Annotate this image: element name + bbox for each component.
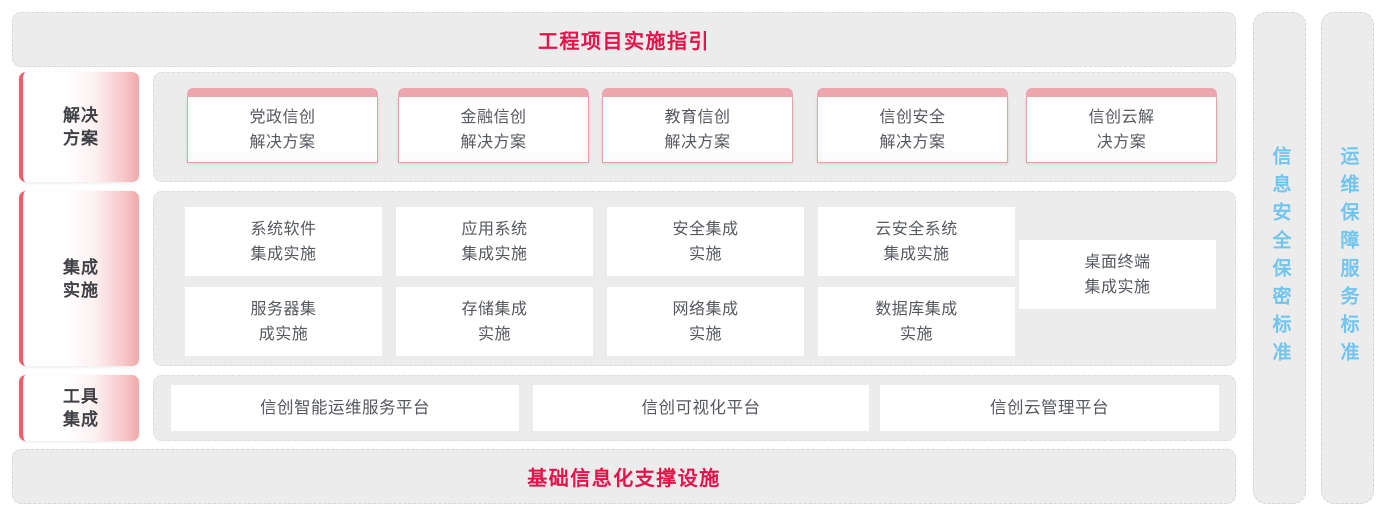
card-line2: 解决方案 bbox=[460, 130, 526, 155]
card-integration-bottom-2-label: 网络集成 实施 bbox=[672, 297, 738, 347]
card-line2: 解决方案 bbox=[249, 130, 315, 155]
card-line1: 桌面终端 bbox=[1084, 250, 1150, 275]
row-label-integration-text: 集成 实施 bbox=[53, 256, 109, 302]
card-line2: 解决方案 bbox=[664, 130, 730, 155]
card-integration-bottom-1[interactable]: 存储集成 实施 bbox=[396, 287, 593, 356]
card-solution-0-label: 党政信创 解决方案 bbox=[249, 105, 315, 155]
row-label-line2: 实施 bbox=[53, 279, 109, 302]
card-line2: 实施 bbox=[672, 322, 738, 347]
card-line1: 数据库集成 bbox=[875, 297, 958, 322]
page-title: 工程项目实施指引 bbox=[538, 25, 710, 54]
card-line1: 信创安全 bbox=[879, 105, 945, 130]
card-integration-bottom-0-label: 服务器集 成实施 bbox=[250, 297, 316, 347]
card-line1: 应用系统 bbox=[461, 217, 527, 242]
card-line2: 集成实施 bbox=[1084, 275, 1150, 300]
card-integration-top-3-label: 云安全系统 集成实施 bbox=[875, 217, 958, 267]
row-label-tools[interactable]: 工具 集成 bbox=[19, 375, 139, 441]
card-integration-top-3[interactable]: 云安全系统 集成实施 bbox=[818, 207, 1015, 276]
row-label-tools-text: 工具 集成 bbox=[53, 385, 109, 431]
vertical-column-security-standard-label: 信息安全保密标准 bbox=[1269, 146, 1291, 370]
card-integration-top-2-label: 安全集成 实施 bbox=[672, 217, 738, 267]
vertical-column-ops-standard-label: 运维保障服务标准 bbox=[1337, 146, 1359, 370]
card-line1: 云安全系统 bbox=[875, 217, 958, 242]
card-solution-4-label: 信创云解 决方案 bbox=[1088, 105, 1154, 155]
vertical-column-ops-standard[interactable]: 运维保障服务标准 bbox=[1321, 12, 1374, 504]
vertical-column-security-standard[interactable]: 信息安全保密标准 bbox=[1253, 12, 1306, 504]
card-line2: 成实施 bbox=[250, 322, 316, 347]
card-integration-bottom-3[interactable]: 数据库集成 实施 bbox=[818, 287, 1015, 356]
card-tool-2[interactable]: 信创云管理平台 bbox=[880, 385, 1219, 431]
row-label-solutions-text: 解决 方案 bbox=[53, 104, 109, 150]
card-tool-1-label: 信创可视化平台 bbox=[642, 396, 761, 421]
card-line1: 信创云解 bbox=[1088, 105, 1154, 130]
card-integration-top-1[interactable]: 应用系统 集成实施 bbox=[396, 207, 593, 276]
card-integration-top-0-label: 系统软件 集成实施 bbox=[250, 217, 316, 267]
card-integration-desktop-terminal[interactable]: 桌面终端 集成实施 bbox=[1019, 240, 1216, 309]
card-solution-1-label: 金融信创 解决方案 bbox=[460, 105, 526, 155]
card-line1: 存储集成 bbox=[461, 297, 527, 322]
card-tool-0[interactable]: 信创智能运维服务平台 bbox=[171, 385, 519, 431]
card-line2: 集成实施 bbox=[461, 242, 527, 267]
row-label-integration[interactable]: 集成 实施 bbox=[19, 191, 139, 366]
row-label-line2: 集成 bbox=[53, 408, 109, 431]
card-line1: 网络集成 bbox=[672, 297, 738, 322]
card-line1: 安全集成 bbox=[672, 217, 738, 242]
card-solution-1[interactable]: 金融信创 解决方案 bbox=[398, 97, 589, 163]
card-line2: 解决方案 bbox=[879, 130, 945, 155]
card-solution-4[interactable]: 信创云解 决方案 bbox=[1026, 97, 1217, 163]
card-integration-bottom-0[interactable]: 服务器集 成实施 bbox=[185, 287, 382, 356]
row-label-line1: 解决 bbox=[53, 104, 109, 127]
card-integration-bottom-1-label: 存储集成 实施 bbox=[461, 297, 527, 347]
card-solution-3-label: 信创安全 解决方案 bbox=[879, 105, 945, 155]
card-line1: 服务器集 bbox=[250, 297, 316, 322]
row-label-line1: 工具 bbox=[53, 385, 109, 408]
card-integration-bottom-3-label: 数据库集成 实施 bbox=[875, 297, 958, 347]
card-line2: 集成实施 bbox=[875, 242, 958, 267]
card-integration-top-2[interactable]: 安全集成 实施 bbox=[607, 207, 804, 276]
card-line1: 党政信创 bbox=[249, 105, 315, 130]
row-label-solutions[interactable]: 解决 方案 bbox=[19, 72, 139, 182]
row-label-line2: 方案 bbox=[53, 127, 109, 150]
diagram-root: 工程项目实施指引 解决 方案 党政信创 解决方案 金融信创 解决方案 教育信创 … bbox=[0, 0, 1390, 515]
row-label-line1: 集成 bbox=[53, 256, 109, 279]
card-integration-desktop-terminal-label: 桌面终端 集成实施 bbox=[1084, 250, 1150, 300]
card-line2: 实施 bbox=[672, 242, 738, 267]
card-solution-2-label: 教育信创 解决方案 bbox=[664, 105, 730, 155]
card-line2: 实施 bbox=[461, 322, 527, 347]
card-integration-top-0[interactable]: 系统软件 集成实施 bbox=[185, 207, 382, 276]
card-line1: 金融信创 bbox=[460, 105, 526, 130]
header-banner: 工程项目实施指引 bbox=[12, 12, 1236, 67]
card-solution-0[interactable]: 党政信创 解决方案 bbox=[187, 97, 378, 163]
card-solution-3[interactable]: 信创安全 解决方案 bbox=[817, 97, 1008, 163]
footer-banner: 基础信息化支撑设施 bbox=[12, 449, 1236, 504]
footer-title: 基础信息化支撑设施 bbox=[527, 462, 721, 491]
card-tool-2-label: 信创云管理平台 bbox=[990, 396, 1109, 421]
card-tool-0-label: 信创智能运维服务平台 bbox=[260, 396, 430, 421]
card-line2: 集成实施 bbox=[250, 242, 316, 267]
card-line2: 决方案 bbox=[1088, 130, 1154, 155]
card-integration-bottom-2[interactable]: 网络集成 实施 bbox=[607, 287, 804, 356]
card-tool-1[interactable]: 信创可视化平台 bbox=[533, 385, 869, 431]
card-solution-2[interactable]: 教育信创 解决方案 bbox=[602, 97, 793, 163]
card-integration-top-1-label: 应用系统 集成实施 bbox=[461, 217, 527, 267]
card-line1: 教育信创 bbox=[664, 105, 730, 130]
card-line2: 实施 bbox=[875, 322, 958, 347]
card-line1: 系统软件 bbox=[250, 217, 316, 242]
